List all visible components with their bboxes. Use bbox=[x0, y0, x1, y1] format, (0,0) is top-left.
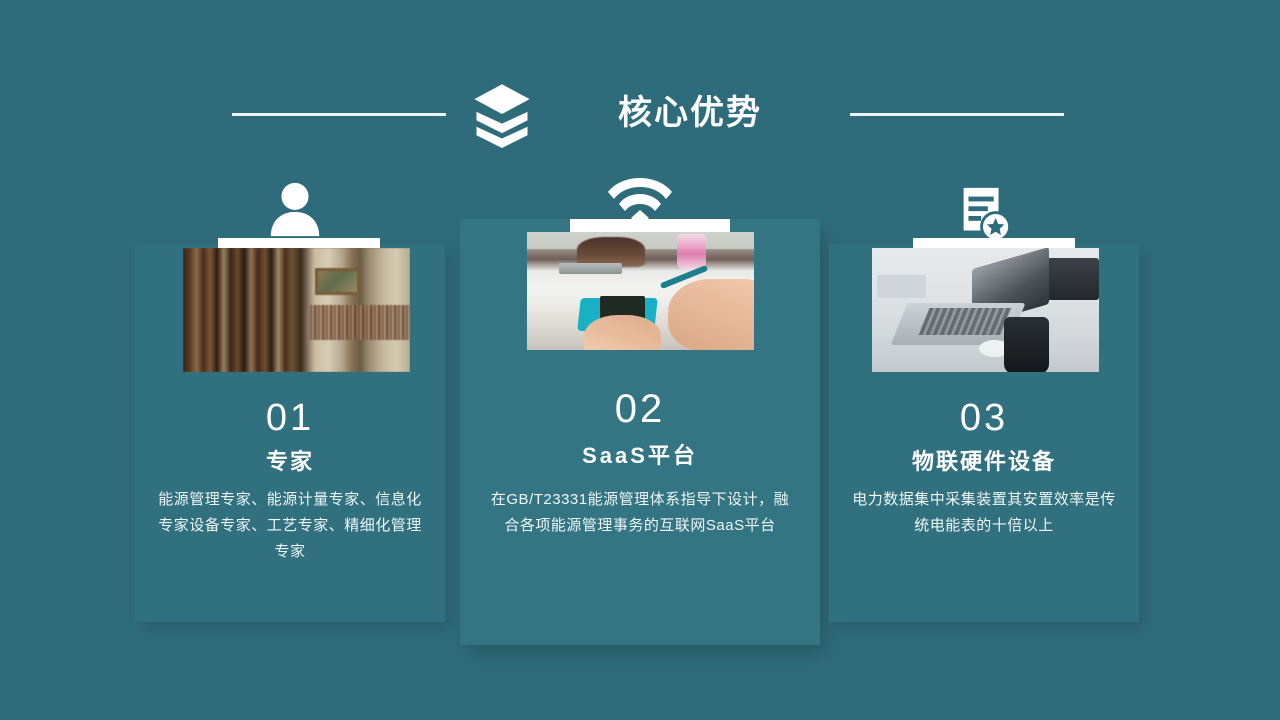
slide-header: 核心优势 bbox=[0, 38, 1280, 108]
card-title: SaaS平台 bbox=[460, 441, 820, 471]
card-number: 03 bbox=[829, 396, 1139, 440]
card-number: 01 bbox=[135, 396, 445, 440]
card-number: 02 bbox=[460, 387, 820, 431]
card-description: 电力数据集中采集装置其安置效率是传统电能表的十倍以上 bbox=[849, 487, 1119, 539]
user-icon bbox=[263, 178, 327, 240]
card-description: 能源管理专家、能源计量专家、信息化专家设备专家、工艺专家、精细化管理专家 bbox=[155, 487, 425, 565]
slide-root: 核心优势 01 专家 能源管理专家、 bbox=[0, 0, 1280, 720]
library-bookshelves-photo bbox=[183, 248, 410, 372]
page-title: 核心优势 bbox=[560, 90, 820, 136]
card-title: 物联硬件设备 bbox=[829, 447, 1139, 477]
office-meeting-desk-photo bbox=[527, 232, 754, 350]
advantage-card-2[interactable]: 02 SaaS平台 在GB/T23331能源管理体系指导下设计，融合各项能源管理… bbox=[460, 219, 820, 645]
card-title: 专家 bbox=[135, 447, 445, 477]
layers-stack-icon bbox=[468, 80, 536, 148]
advantage-card-3[interactable]: 03 物联硬件设备 电力数据集中采集装置其安置效率是传统电能表的十倍以上 bbox=[829, 244, 1139, 622]
header-divider-left bbox=[232, 113, 446, 116]
header-divider-right bbox=[850, 113, 1064, 116]
laptop-desk-photo bbox=[872, 248, 1099, 372]
advantage-card-1[interactable]: 01 专家 能源管理专家、能源计量专家、信息化专家设备专家、工艺专家、精细化管理… bbox=[135, 244, 445, 622]
card-description: 在GB/T23331能源管理体系指导下设计，融合各项能源管理事务的互联网SaaS… bbox=[484, 487, 796, 539]
